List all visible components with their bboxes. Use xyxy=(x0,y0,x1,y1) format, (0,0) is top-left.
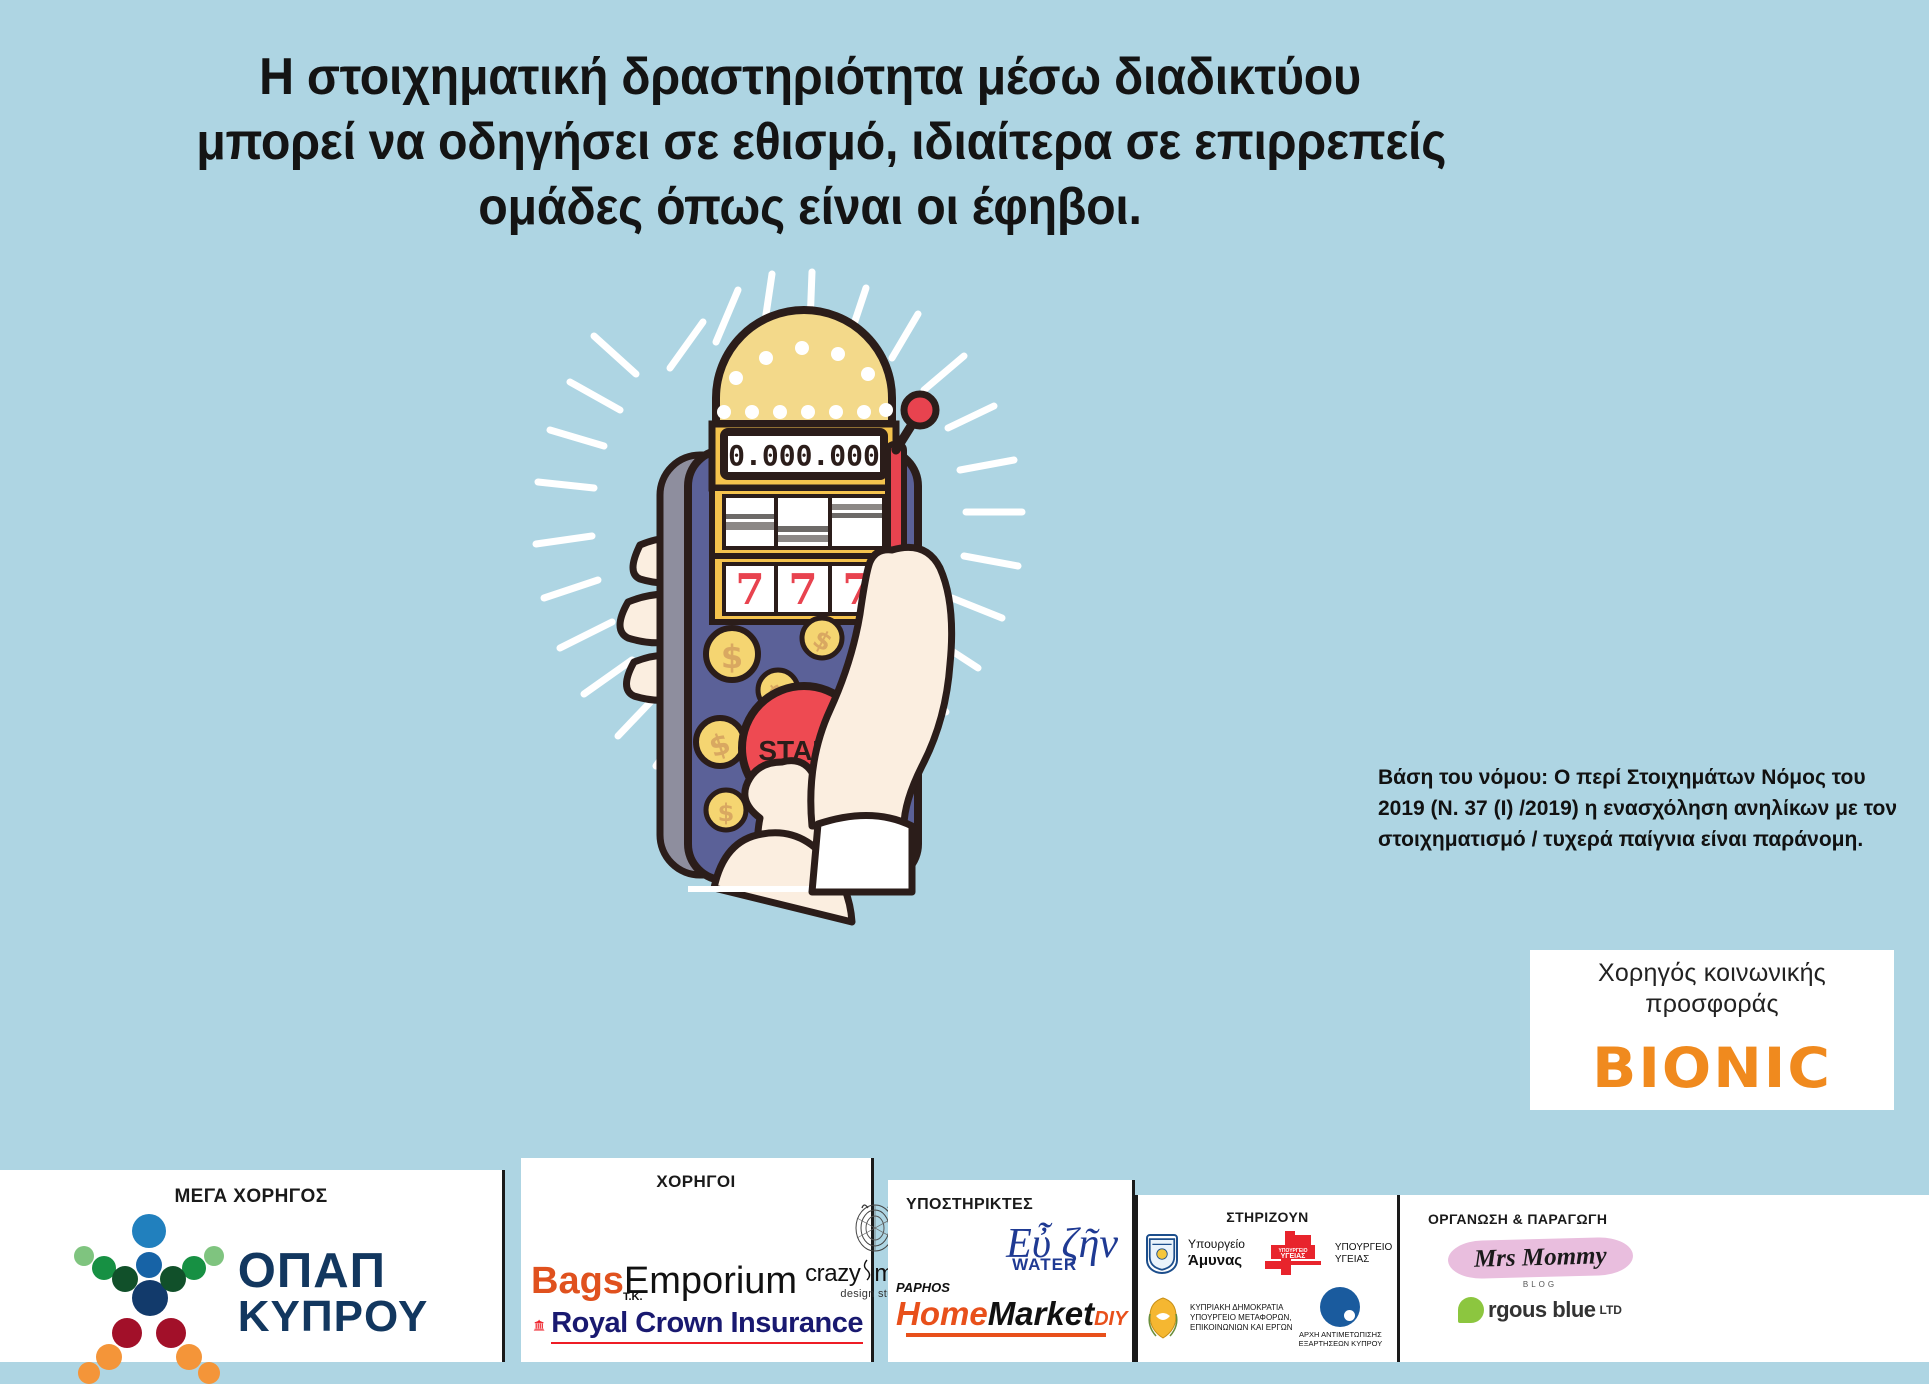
reel-symbol-2: 7 xyxy=(788,565,817,614)
jackpot-display: 0.000.000 xyxy=(728,439,880,472)
ypourgeio-amynas-logo: Υπουργείο Άμυνας xyxy=(1146,1231,1245,1277)
royal-crown-insurance-logo: Royal Crown Insurance xyxy=(521,1300,871,1346)
ypourgeio-metaforon-logo: ΚΥΠΡΙΑΚΗ ΔΗΜΟΚΡΑΤΙΑ ΥΠΟΥΡΓΕΙΟ ΜΕΤΑΦΟΡΩΝ,… xyxy=(1146,1287,1293,1349)
amynas-line1: Υπουργείο xyxy=(1188,1237,1245,1251)
shirt-sleeve xyxy=(812,815,912,892)
opap-wordmark: ΟΠΑΠ ΚΥΠΡΟΥ xyxy=(238,1247,429,1338)
mrs-mommy-brush: Mrs Mommy xyxy=(1447,1237,1633,1280)
ev-zin-logo: Εὖ ζῆν WATER xyxy=(1006,1221,1118,1267)
panel-title-mega: ΜΕΓΑ ΧΟΡΗΓΟΣ xyxy=(0,1186,502,1208)
social-sponsor-label-line2: προσφοράς xyxy=(1645,990,1778,1018)
mrs-mommy-sub: BLOG xyxy=(1400,1280,1680,1289)
diy-label: DIY xyxy=(1094,1308,1127,1330)
sponsor-panel-stirizoyn: ΣΤΗΡΙΖΟΥΝ Υπουργείο Άμυνας xyxy=(1135,1195,1400,1362)
opap-kyprou-logo: ΟΠΑΠ ΚΥΠΡΟΥ xyxy=(0,1214,502,1372)
legal-note: Βάση του νόμου: Ο περί Στοιχημάτων Νόμος… xyxy=(1378,762,1908,855)
argous-blue-suffix: LTD xyxy=(1600,1303,1622,1317)
home-market-underline xyxy=(906,1333,1106,1337)
svg-text:ΥΓΕΙΑΣ: ΥΓΕΙΑΣ xyxy=(1281,1253,1306,1260)
amynas-line2: Άμυνας xyxy=(1188,1252,1242,1269)
panel-title-xorigoi: ΧΟΡΗΓΟΙ xyxy=(521,1172,871,1192)
bionic-logo: BIONIC xyxy=(1592,1036,1832,1101)
headline-line-3: ομάδες όπως είναι οι έφηβοι. xyxy=(196,175,1424,240)
mrs-mommy-text: Mrs Mommy xyxy=(1473,1242,1606,1272)
panel-title-organosi: ΟΡΓΑΝΩΣΗ & ΠΑΡΑΓΩΓΗ xyxy=(1400,1211,1929,1227)
arxi-antimetopisis-logo: ΑΡΧΗ ΑΝΤΙΜΕΤΩΠΙΣΗΣ ΕΞΑΡΤΗΣΕΩΝ ΚΥΠΡΟΥ xyxy=(1299,1287,1383,1349)
paphos-home-market-logo: PAPHOS HomeMarketDIY xyxy=(888,1268,1132,1337)
argous-blue-logo: rgous blue LTD xyxy=(1400,1297,1680,1323)
sponsor-panel-mega: ΜΕΓΑ ΧΟΡΗΓΟΣ ΟΠΑΠ ΚΥΠΡΟ xyxy=(0,1170,505,1362)
bags-emporium-logo: BagsEmporium T.K. xyxy=(531,1262,797,1300)
opap-line2: ΚΥΠΡΟΥ xyxy=(238,1295,429,1338)
opap-figure-icon xyxy=(74,1214,224,1372)
health-cross-icon: ΥΠΟΥΡΓΕΙΟ ΥΓΕΙΑΣ xyxy=(1251,1231,1325,1277)
market-label: Market xyxy=(988,1295,1094,1332)
opap-line1: ΟΠΑΠ xyxy=(238,1247,429,1295)
bags-part2: Emporium xyxy=(624,1260,797,1302)
bags-sub: T.K. xyxy=(623,1292,643,1303)
metaforon-line3: ΕΠΙΚΟΙΝΩΝΙΩΝ ΚΑΙ ΕΡΓΩΝ xyxy=(1190,1323,1293,1332)
svg-text:$: $ xyxy=(718,799,735,827)
headline-line-1: Η στοιχηματική δραστηριότητα μέσω διαδικ… xyxy=(196,45,1424,110)
social-sponsor-label-line1: Χορηγός κοινωνικής xyxy=(1598,959,1826,987)
panel-title-ypostiriktes: ΥΠΟΣΤΗΡΙΚΤΕΣ xyxy=(888,1196,1132,1214)
slot-machine-phone-illustration: 0.000.000 7 xyxy=(520,250,1040,890)
ypourgeio-ygeias-logo: ΥΠΟΥΡΓΕΙΟ ΥΓΕΙΑΣ ΥΠΟΥΡΓΕΙΟ ΥΓΕΙΑΣ xyxy=(1251,1231,1392,1277)
social-sponsor-card: Χορηγός κοινωνικής προσφοράς BIONIC xyxy=(1530,950,1894,1110)
sponsor-panel-ypostiriktes: ΥΠΟΣΤΗΡΙΚΤΕΣ Εὖ ζῆν WATER PAPHOS HomeMar… xyxy=(888,1180,1135,1362)
sponsor-panel-xorigoi: ΧΟΡΗΓΟΙ BagsEmporium T.K. crazy mo xyxy=(521,1158,874,1362)
metaforon-line1: ΚΥΠΡΙΑΚΗ ΔΗΜΟΚΡΑΤΙΑ xyxy=(1190,1303,1284,1312)
svg-text:$: $ xyxy=(721,638,743,676)
amynas-text: Υπουργείο Άμυνας xyxy=(1188,1237,1245,1271)
cyprus-emblem-icon xyxy=(1146,1296,1180,1340)
paphos-label: PAPHOS xyxy=(896,1280,1132,1295)
arxi-line1: ΑΡΧΗ ΑΝΤΙΜΕΤΩΠΙΣΗΣ xyxy=(1299,1330,1382,1339)
ygeias-text: ΥΠΟΥΡΓΕΙΟ ΥΓΕΙΑΣ xyxy=(1335,1242,1392,1267)
mrs-mommy-logo: Mrs Mommy BLOG rgous blue LTD xyxy=(1400,1239,1680,1323)
temple-icon xyxy=(533,1304,545,1346)
panel-title-stirizoyn: ΣΤΗΡΙΖΟΥΝ xyxy=(1138,1209,1397,1225)
defence-shield-icon xyxy=(1146,1234,1178,1274)
ygeias-line2: ΥΓΕΙΑΣ xyxy=(1335,1254,1369,1265)
royal-crown-rule xyxy=(551,1342,863,1344)
ygeias-line1: ΥΠΟΥΡΓΕΙΟ xyxy=(1335,1242,1392,1253)
poster-canvas: Η στοιχηματική δραστηριότητα μέσω διαδικ… xyxy=(0,0,1929,1362)
social-sponsor-label: Χορηγός κοινωνικής προσφοράς xyxy=(1598,958,1826,1021)
page-title: Η στοιχηματική δραστηριότητα μέσω διαδικ… xyxy=(196,45,1424,240)
sponsor-panel-organosi: ΟΡΓΑΝΩΣΗ & ΠΑΡΑΓΩΓΗ Mrs Mommy BLOG rgous… xyxy=(1400,1195,1929,1362)
home-label: Home xyxy=(896,1295,988,1332)
headline-line-2: μπορεί να οδηγήσει σε εθισμό, ιδιαίτερα … xyxy=(196,110,1424,175)
metaforon-line2: ΥΠΟΥΡΓΕΙΟ ΜΕΤΑΦΟΡΩΝ, xyxy=(1190,1313,1291,1322)
mouse-tail-icon xyxy=(862,1259,872,1281)
metaforon-text: ΚΥΠΡΙΑΚΗ ΔΗΜΟΚΡΑΤΙΑ ΥΠΟΥΡΓΕΙΟ ΜΕΤΑΦΟΡΩΝ,… xyxy=(1190,1303,1293,1333)
crazy-mouse-line1: crazy xyxy=(805,1260,860,1288)
royal-crown-text: Royal Crown Insurance xyxy=(551,1307,863,1340)
argous-blue-text: rgous blue xyxy=(1488,1297,1595,1323)
addiction-authority-icon xyxy=(1320,1287,1360,1327)
bags-part1: Bags xyxy=(531,1260,624,1302)
arxi-line2: ΕΞΑΡΤΗΣΕΩΝ ΚΥΠΡΟΥ xyxy=(1299,1339,1383,1348)
argous-blue-mark-icon xyxy=(1458,1297,1484,1323)
reel-symbol-1: 7 xyxy=(735,565,764,614)
